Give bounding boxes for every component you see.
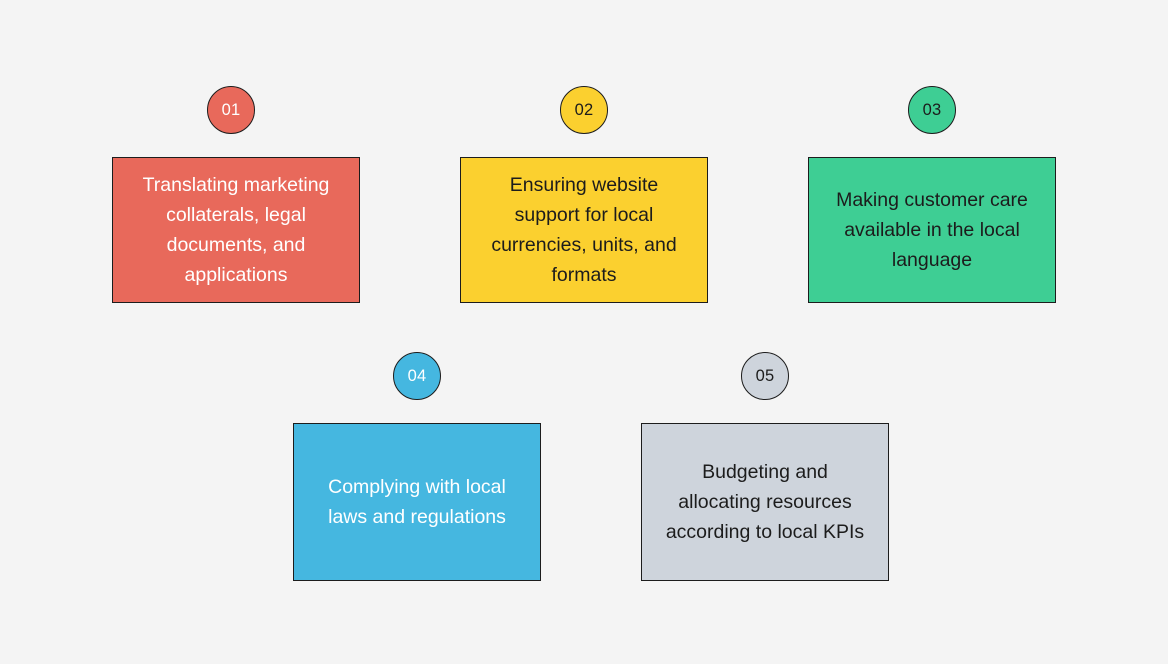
step-badge-label-01: 01 xyxy=(222,102,241,119)
step-badge-04[interactable]: 04 xyxy=(393,352,441,400)
step-card-text-03: Making customer care available in the lo… xyxy=(827,185,1037,275)
step-card-03[interactable]: Making customer care available in the lo… xyxy=(808,157,1056,303)
step-card-02[interactable]: Ensuring website support for local curre… xyxy=(460,157,708,303)
step-card-text-04: Complying with local laws and regulation… xyxy=(312,472,522,532)
step-card-text-01: Translating marketing collaterals, legal… xyxy=(131,170,341,290)
step-card-05[interactable]: Budgeting and allocating resources accor… xyxy=(641,423,889,581)
step-badge-label-05: 05 xyxy=(756,368,775,385)
step-card-01[interactable]: Translating marketing collaterals, legal… xyxy=(112,157,360,303)
step-card-text-02: Ensuring website support for local curre… xyxy=(479,170,689,290)
step-card-text-05: Budgeting and allocating resources accor… xyxy=(660,457,870,547)
step-card-04[interactable]: Complying with local laws and regulation… xyxy=(293,423,541,581)
step-badge-label-04: 04 xyxy=(408,368,427,385)
step-badge-05[interactable]: 05 xyxy=(741,352,789,400)
step-badge-03[interactable]: 03 xyxy=(908,86,956,134)
step-badge-02[interactable]: 02 xyxy=(560,86,608,134)
infographic-canvas: 01 Translating marketing collaterals, le… xyxy=(0,0,1168,664)
step-badge-label-02: 02 xyxy=(575,102,594,119)
step-badge-01[interactable]: 01 xyxy=(207,86,255,134)
step-badge-label-03: 03 xyxy=(923,102,942,119)
